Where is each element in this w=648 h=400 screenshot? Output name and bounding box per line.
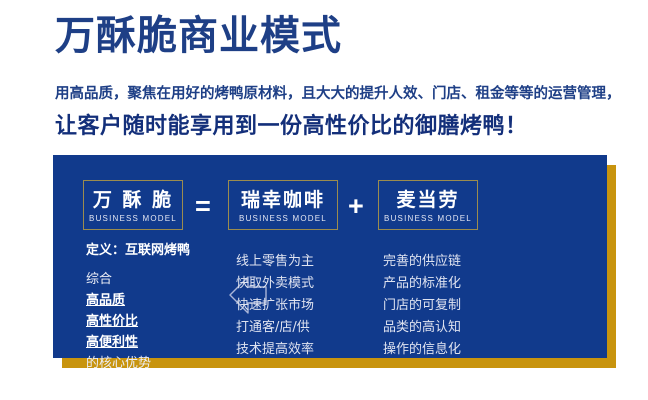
list-item: 技术提高效率: [236, 339, 366, 361]
column-luckin-traits: 线上零售为主 快取外卖模式 快速扩张市场 打通客/店/供 技术提高效率: [236, 251, 366, 361]
brand-subtitle: BUSINESS MODEL: [84, 214, 182, 224]
subtitle-line-2: 让客户随时能享用到一份高性价比的御膳烤鸭！: [55, 108, 528, 140]
list-item: 综合: [86, 269, 231, 290]
list-item: 线上零售为主: [236, 251, 366, 273]
brand-box-wansucui: 万 酥 脆 BUSINESS MODEL: [83, 180, 183, 230]
subtitle-line-1: 用高品质，聚焦在用好的烤鸭原材料，且大大的提升人效、门店、租金等等的运营管理，: [55, 82, 621, 103]
column-mcdonalds-traits: 完善的供应链 产品的标准化 门店的可复制 品类的高认知 操作的信息化: [383, 251, 518, 361]
brand-name: 麦当劳: [379, 189, 477, 211]
brand-subtitle: BUSINESS MODEL: [379, 214, 477, 224]
page-title: 万酥脆商业模式: [55, 12, 342, 60]
list-item: 品类的高认知: [383, 317, 518, 339]
list-item: 快取外卖模式: [236, 273, 366, 295]
list-item: 门店的可复制: [383, 295, 518, 317]
plus-operator: +: [348, 191, 364, 221]
list-item: 产品的标准化: [383, 273, 518, 295]
list-item: 快速扩张市场: [236, 295, 366, 317]
business-model-panel: 万 酥 脆 BUSINESS MODEL = 瑞幸咖啡 BUSINESS MOD…: [53, 155, 607, 358]
brand-subtitle: BUSINESS MODEL: [229, 214, 337, 224]
list-item: 完善的供应链: [383, 251, 518, 273]
list-item: 打通客/店/供: [236, 317, 366, 339]
brand-name: 瑞幸咖啡: [229, 189, 337, 211]
column-definition: 定义：互联网烤鸭 综合 高品质 高性价比 高便利性 的核心优势: [86, 243, 231, 374]
equals-operator: =: [195, 191, 211, 221]
column-heading: 定义：互联网烤鸭: [86, 243, 231, 259]
list-item: 高便利性: [86, 332, 231, 353]
list-item: 高品质: [86, 290, 231, 311]
list-item: 操作的信息化: [383, 339, 518, 361]
brand-name: 万 酥 脆: [84, 189, 182, 211]
list-item: 的核心优势: [86, 353, 231, 374]
list-item: 高性价比: [86, 311, 231, 332]
brand-box-luckin-coffee: 瑞幸咖啡 BUSINESS MODEL: [228, 180, 338, 230]
brand-box-mcdonalds: 麦当劳 BUSINESS MODEL: [378, 180, 478, 230]
